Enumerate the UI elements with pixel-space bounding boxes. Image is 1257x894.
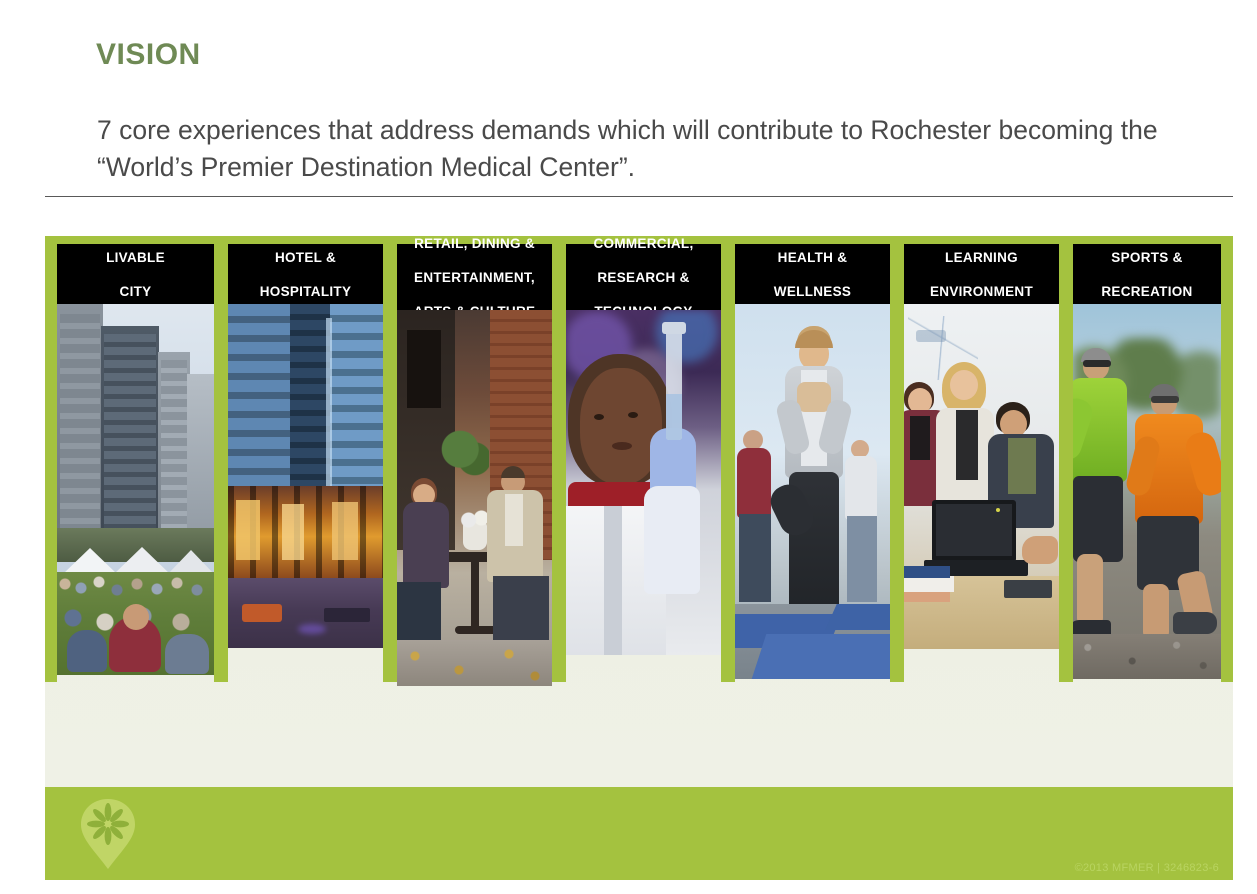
panel-header-retail-dining: RETAIL, DINING & ENTERTAINMENT, ARTS & C… (397, 244, 552, 310)
panel-separator-2 (383, 236, 397, 682)
mayo-clinic-pin-logo (69, 795, 147, 873)
experiences-board: LIVABLE CITY (45, 236, 1233, 788)
panel-livable-city[interactable]: LIVABLE CITY (57, 244, 214, 675)
panel-title-line: LIVABLE (59, 249, 212, 266)
panel-header-livable-city: LIVABLE CITY (57, 244, 214, 304)
panel-separator-4 (721, 236, 735, 682)
board-accent-left (45, 236, 57, 682)
panel-header-learning-environment: LEARNING ENVIRONMENT (904, 244, 1059, 304)
panel-title-line: COMMERCIAL, (568, 235, 719, 252)
panel-header-health-wellness: HEALTH & WELLNESS (735, 244, 890, 304)
panel-health-wellness[interactable]: HEALTH & WELLNESS (735, 244, 890, 679)
panel-photo-sports-recreation (1073, 304, 1221, 679)
panel-photo-retail-dining (397, 310, 552, 686)
board-accent-right (1221, 236, 1233, 682)
panel-header-sports-recreation: SPORTS & RECREATION (1073, 244, 1221, 304)
panel-separator-1 (214, 236, 228, 682)
panel-separator-6 (1059, 236, 1073, 682)
panel-retail-dining-entertainment-arts-culture[interactable]: RETAIL, DINING & ENTERTAINMENT, ARTS & C… (397, 244, 552, 686)
panel-title-line: SPORTS & (1075, 249, 1219, 266)
panel-title-line: WELLNESS (737, 283, 888, 300)
panel-sports-recreation[interactable]: SPORTS & RECREATION (1073, 244, 1221, 679)
copyright-credit: ©2013 MFMER | 3246823-6 (1075, 862, 1219, 874)
slide-subtitle: 7 core experiences that address demands … (97, 112, 1222, 186)
panel-photo-learning-environment (904, 304, 1059, 649)
panel-title-line: HEALTH & (737, 249, 888, 266)
panel-header-commercial-research: COMMERCIAL, RESEARCH & TECHNOLOGY (566, 244, 721, 310)
title-divider (45, 196, 1233, 197)
panel-separator-5 (890, 236, 904, 682)
panel-separator-3 (552, 236, 566, 682)
panel-photo-livable-city (57, 304, 214, 675)
panel-photo-health-wellness (735, 304, 890, 679)
footer-band: ©2013 MFMER | 3246823-6 (45, 787, 1233, 880)
page-title: VISION (96, 38, 201, 72)
panel-title-line: HOTEL & (230, 249, 381, 266)
panel-learning-environment[interactable]: LEARNING ENVIRONMENT (904, 244, 1059, 649)
panel-title-line: CITY (59, 283, 212, 300)
panel-title-line: RETAIL, DINING & (399, 235, 550, 252)
panel-title-line: ENVIRONMENT (906, 283, 1057, 300)
panel-title-line: ENTERTAINMENT, (399, 269, 550, 286)
panel-photo-commercial-research (566, 310, 721, 655)
panel-title-line: RESEARCH & (568, 269, 719, 286)
panel-photo-hotel-hospitality (228, 304, 383, 648)
panel-title-line: LEARNING (906, 249, 1057, 266)
panel-title-line: HOSPITALITY (230, 283, 381, 300)
panel-hotel-hospitality[interactable]: HOTEL & HOSPITALITY (228, 244, 383, 648)
panel-header-hotel-hospitality: HOTEL & HOSPITALITY (228, 244, 383, 304)
panel-commercial-research-technology[interactable]: COMMERCIAL, RESEARCH & TECHNOLOGY (566, 244, 721, 655)
panel-title-line: RECREATION (1075, 283, 1219, 300)
